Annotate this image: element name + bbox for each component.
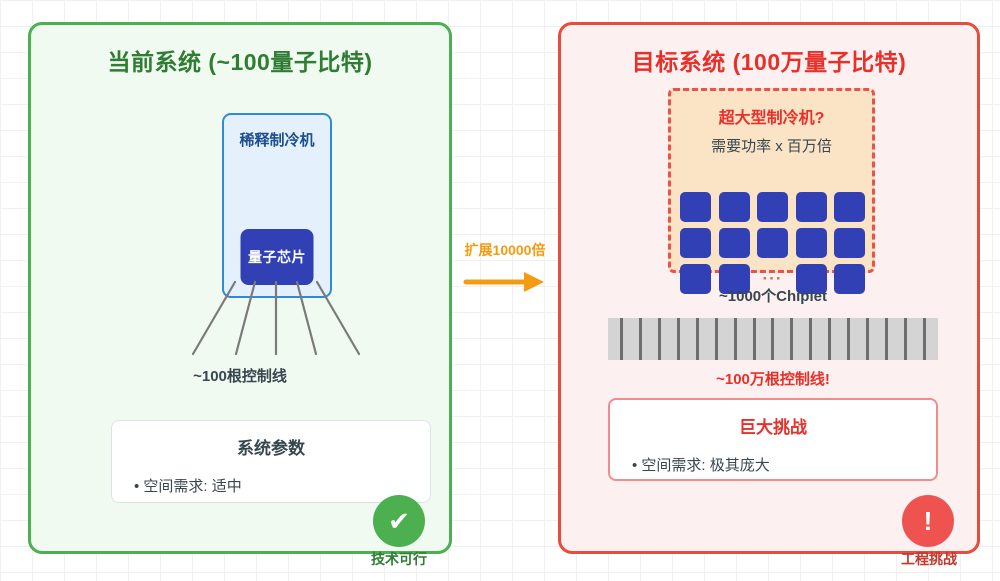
current-system-title: 当前系统 (~100量子比特) [31, 43, 449, 77]
control-line [658, 318, 661, 360]
control-line [753, 318, 756, 360]
chiplet-tile [719, 228, 750, 258]
chiplet-tile [680, 192, 711, 222]
chiplet-tile [719, 192, 750, 222]
chiplet-tile [834, 228, 865, 258]
target-system-title: 目标系统 (100万量子比特) [561, 43, 977, 77]
control-line [885, 318, 888, 360]
dilution-refrigerator-label: 稀释制冷机 [224, 129, 330, 150]
feasible-status-caption: 技术可行 [339, 549, 459, 569]
chiplet-tile [796, 228, 827, 258]
control-line [923, 318, 926, 360]
quantum-chip-label: 量子芯片 [248, 247, 306, 267]
control-line [639, 318, 642, 360]
quantum-chip: 量子芯片 [241, 229, 314, 285]
control-lines-count-label: ~100根控制线 [31, 365, 449, 386]
giant-cryostat-subtitle: 需要功率 x 百万倍 [671, 135, 872, 156]
chiplet-tile [757, 228, 788, 258]
feasible-status-badge: ✔ [373, 495, 425, 547]
control-line [677, 318, 680, 360]
control-line [809, 318, 812, 360]
challenge-status-badge: ! [902, 495, 954, 547]
system-parameters-bullet: • 空间需求: 适中 [112, 475, 430, 496]
chiplet-tile [757, 192, 788, 222]
control-line [790, 318, 793, 360]
control-line [866, 318, 869, 360]
huge-challenge-title: 巨大挑战 [610, 413, 936, 438]
huge-challenge-card: 巨大挑战 • 空间需求: 极其庞大 [608, 398, 938, 481]
control-line [715, 318, 718, 360]
scaling-factor-label: 扩展10000倍 [452, 240, 558, 260]
control-line [771, 318, 774, 360]
control-lines-fan [151, 280, 401, 370]
right-arrow-icon [462, 268, 548, 296]
dilution-refrigerator: 稀释制冷机 量子芯片 [222, 113, 332, 298]
check-icon: ✔ [388, 508, 410, 534]
system-parameters-card: 系统参数 • 空间需求: 适中 [111, 420, 431, 503]
chiplet-tile [796, 192, 827, 222]
control-line [847, 318, 850, 360]
control-line [620, 318, 623, 360]
control-line-bundle-label: ~100万根控制线! [608, 368, 938, 389]
control-line [828, 318, 831, 360]
system-parameters-title: 系统参数 [112, 434, 430, 459]
control-line [904, 318, 907, 360]
exclamation-icon: ! [924, 508, 933, 534]
huge-challenge-bullet: • 空间需求: 极其庞大 [610, 454, 936, 475]
scaling-arrow-group: 扩展10000倍 [452, 240, 558, 296]
chiplet-grid: ··· [680, 192, 865, 300]
chiplet-row [680, 192, 865, 222]
diagram-canvas: 当前系统 (~100量子比特) 稀释制冷机 量子芯片 ~100根控制线 系统参数… [0, 0, 1000, 581]
chiplet-row [680, 228, 865, 258]
control-line-bundle [608, 318, 938, 360]
challenge-status-caption: 工程挑战 [869, 549, 989, 569]
chiplet-tile [680, 228, 711, 258]
giant-cryostat-title: 超大型制冷机? [671, 104, 872, 128]
chiplet-tile [834, 192, 865, 222]
control-line [696, 318, 699, 360]
control-line [734, 318, 737, 360]
current-system-panel: 当前系统 (~100量子比特) 稀释制冷机 量子芯片 ~100根控制线 系统参数… [28, 22, 452, 554]
chiplet-count-label: ~1000个Chiplet [608, 285, 938, 306]
